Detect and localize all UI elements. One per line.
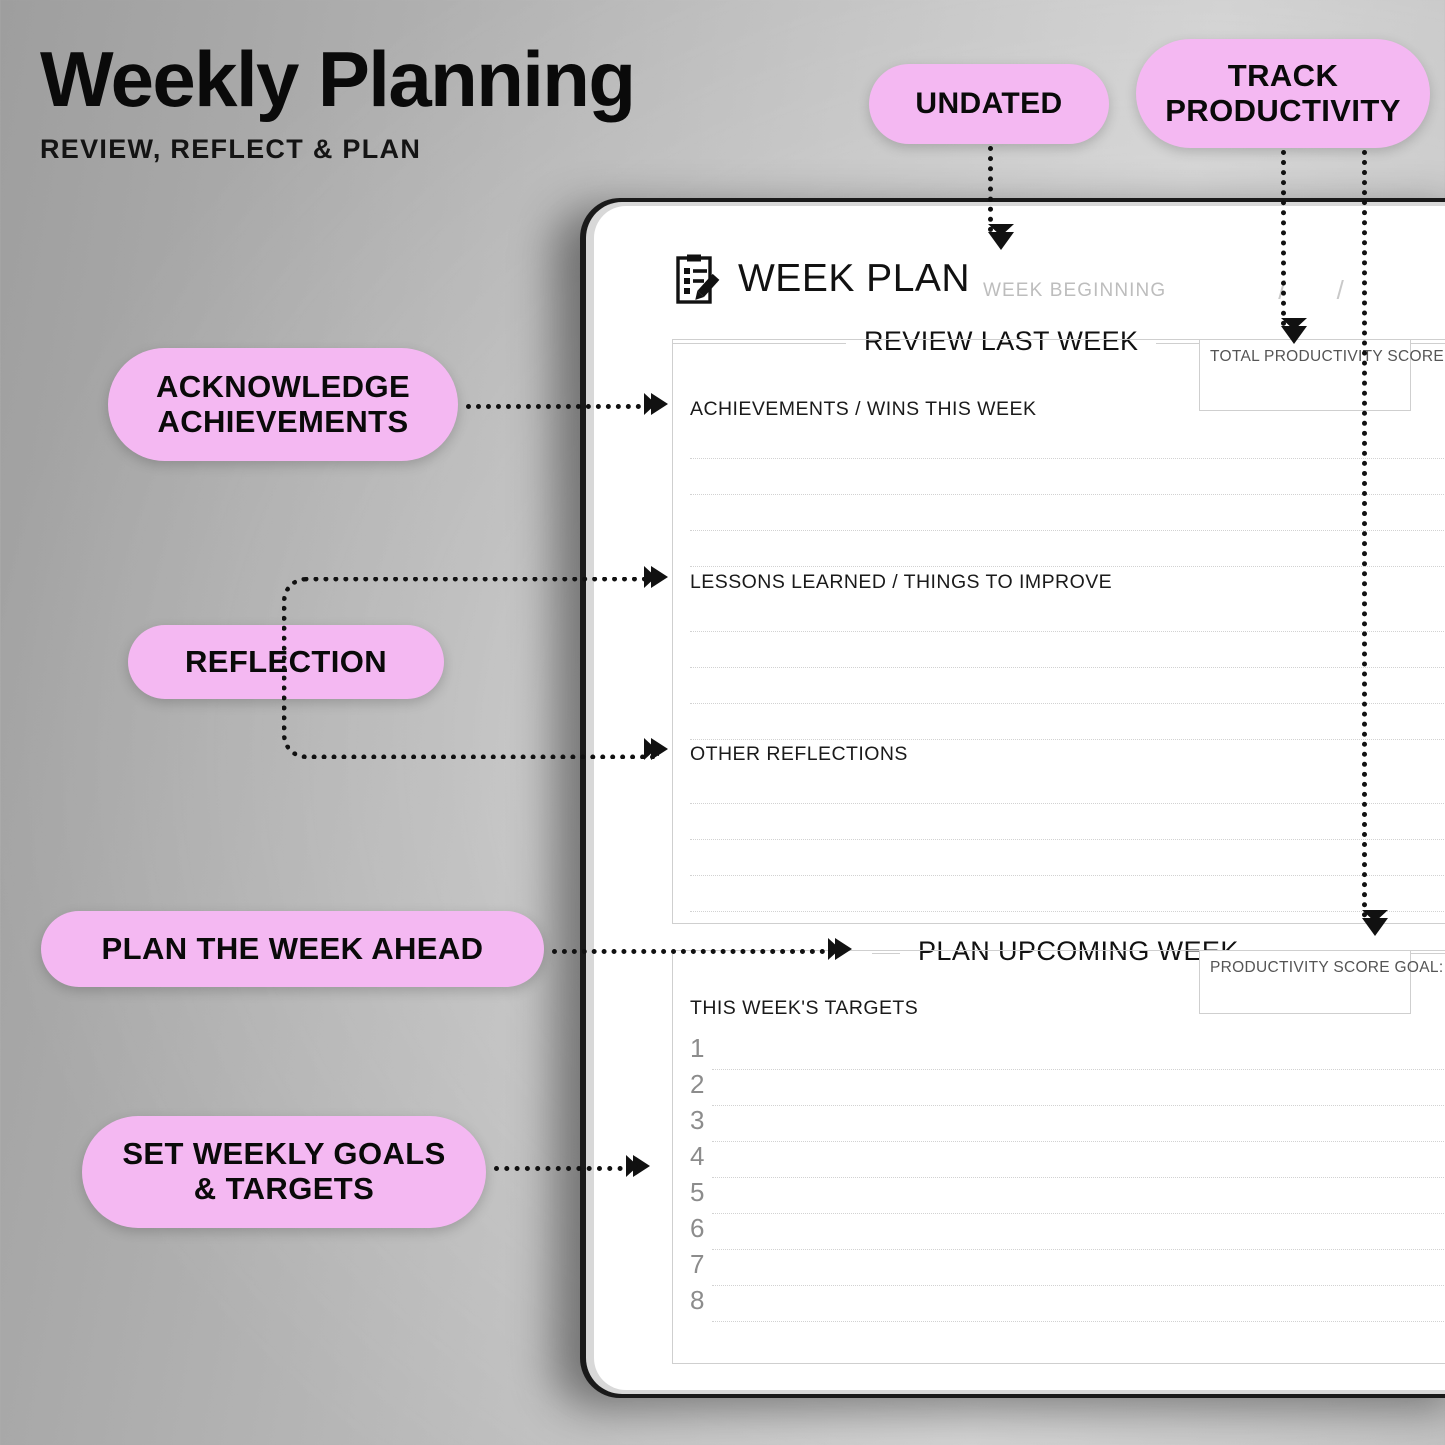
rule-line[interactable] (690, 739, 1445, 740)
target-rule[interactable] (712, 1285, 1445, 1286)
targets-label: THIS WEEK'S TARGETS (690, 997, 918, 1020)
productivity-score-goal-box[interactable]: PRODUCTIVITY SCORE GOAL: (1199, 950, 1411, 1014)
page-title: Weekly Planning (40, 40, 634, 118)
connector-reflection-bracket (282, 577, 659, 759)
section-label-lessons: LESSONS LEARNED / THINGS TO IMPROVE (690, 571, 1112, 594)
section-label-achievements: ACHIEVEMENTS / WINS THIS WEEK (690, 398, 1036, 421)
target-rule[interactable] (712, 1213, 1445, 1214)
rule-line[interactable] (690, 703, 1445, 704)
tablet-device: WEEK PLAN WEEK BEGINNING / / REVIEW LAST… (580, 198, 1445, 1398)
badge-acknowledge-achievements[interactable]: ACKNOWLEDGE ACHIEVEMENTS (108, 348, 458, 461)
target-rule[interactable] (712, 1249, 1445, 1250)
planner-page: WEEK PLAN WEEK BEGINNING / / REVIEW LAST… (594, 206, 1445, 1390)
connector-plan (552, 949, 835, 954)
rule-line[interactable] (690, 631, 1445, 632)
target-number: 5 (690, 1177, 704, 1208)
connector-undated (988, 146, 993, 232)
connector-track-2 (1362, 150, 1367, 918)
clipboard-pencil-icon (676, 254, 722, 304)
target-number: 8 (690, 1285, 704, 1316)
connector-acknowledge (466, 404, 651, 409)
rule-line[interactable] (690, 667, 1445, 668)
connector-acknowledge-arrow (651, 393, 668, 415)
planner-title: WEEK PLAN (738, 257, 970, 301)
week-beginning-label: WEEK BEGINNING (983, 280, 1166, 302)
target-rule[interactable] (712, 1105, 1445, 1106)
rule-line[interactable] (690, 494, 1445, 495)
target-number: 6 (690, 1213, 704, 1244)
badge-undated[interactable]: UNDATED (869, 64, 1109, 144)
target-number: 2 (690, 1069, 704, 1100)
rule-line[interactable] (690, 458, 1445, 459)
target-number: 3 (690, 1105, 704, 1136)
target-number: 4 (690, 1141, 704, 1172)
connector-goals (494, 1166, 633, 1171)
badge-plan-the-week-ahead[interactable]: PLAN THE WEEK AHEAD (41, 911, 544, 987)
headline-block: Weekly Planning REVIEW, REFLECT & PLAN (40, 40, 634, 165)
connector-track-1-arrow (1281, 326, 1307, 344)
target-rule[interactable] (712, 1321, 1445, 1322)
connector-plan-arrow (835, 938, 852, 960)
rule-line[interactable] (690, 875, 1445, 876)
planner-header: WEEK PLAN (676, 254, 970, 304)
rule-line[interactable] (690, 566, 1445, 567)
date-slash-2: / (1337, 275, 1345, 306)
connector-track-1 (1281, 150, 1286, 326)
week-beginning-field[interactable]: WEEK BEGINNING / / (983, 275, 1345, 306)
planner-page-content: WEEK PLAN WEEK BEGINNING / / REVIEW LAST… (594, 206, 1445, 1390)
target-rule[interactable] (712, 1141, 1445, 1142)
poster-stage: Weekly Planning REVIEW, REFLECT & PLAN (0, 0, 1445, 1445)
total-productivity-score-box[interactable]: TOTAL PRODUCTIVITY SCORE: (1199, 339, 1411, 411)
badge-set-weekly-goals[interactable]: SET WEEKLY GOALS & TARGETS (82, 1116, 486, 1228)
target-number: 1 (690, 1033, 704, 1064)
rule-line[interactable] (690, 839, 1445, 840)
target-rule[interactable] (712, 1177, 1445, 1178)
connector-track-2-arrow (1362, 918, 1388, 936)
total-productivity-score-label: TOTAL PRODUCTIVITY SCORE: (1210, 348, 1445, 366)
connector-goals-arrow (633, 1155, 650, 1177)
rule-line[interactable] (690, 911, 1445, 912)
connector-reflection-arrow-bottom (651, 738, 668, 760)
target-rule[interactable] (712, 1069, 1445, 1070)
productivity-score-goal-label: PRODUCTIVITY SCORE GOAL: (1210, 959, 1443, 977)
connector-undated-arrow (988, 232, 1014, 250)
section-label-other-reflections: OTHER REFLECTIONS (690, 743, 908, 766)
connector-reflection-arrow-top (651, 566, 668, 588)
target-number: 7 (690, 1249, 704, 1280)
rule-line[interactable] (690, 530, 1445, 531)
page-subtitle: REVIEW, REFLECT & PLAN (40, 134, 634, 165)
badge-track-productivity[interactable]: TRACK PRODUCTIVITY (1136, 39, 1430, 148)
rule-line[interactable] (690, 803, 1445, 804)
